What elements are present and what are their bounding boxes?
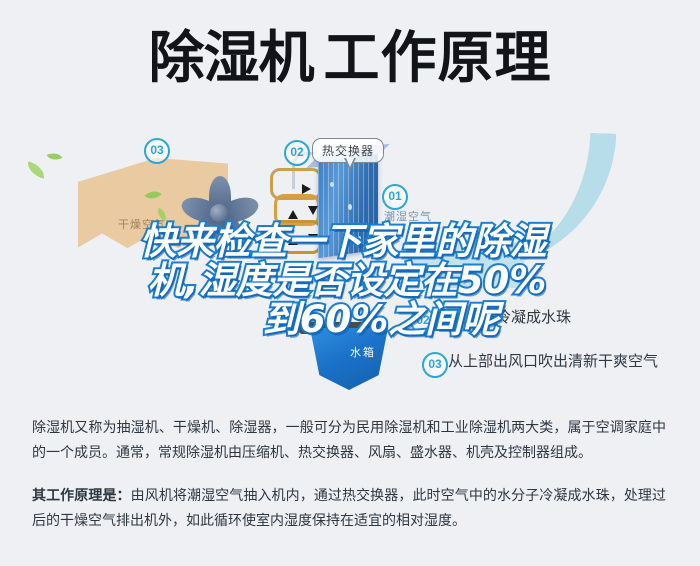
marker-01: 01 — [382, 184, 408, 210]
water-tank-icon — [310, 328, 388, 390]
page-root: 除湿机工作原理 干燥空气 — [0, 0, 700, 566]
page-title-part1: 除湿机 — [149, 24, 314, 94]
article-paragraph-2: 其工作原理是：由风机将潮湿空气抽入机内，通过热交换器，此时空气中的水分子冷凝成水… — [0, 484, 700, 534]
marker-02: 02 — [284, 140, 310, 166]
leaf-icon — [25, 161, 48, 179]
humid-air-arrow-tail-icon — [402, 242, 527, 288]
humid-air-label: 潮湿空气 — [384, 208, 432, 224]
water-tank-label: 水箱 — [350, 344, 376, 360]
article-paragraph-1: 除湿机又称为抽湿机、干燥机、除湿器，一般可分为民用除湿机和工业除湿机两大类，属于… — [0, 416, 700, 466]
callout-pointer-icon — [344, 158, 356, 170]
page-title-part2: 工作原理 — [324, 24, 552, 94]
water-droplet-icon — [358, 236, 361, 241]
flow-arrow-up-icon — [288, 210, 298, 219]
water-droplet-icon — [336, 224, 340, 229]
flow-arrow-up-icon — [288, 236, 298, 245]
caption-02-text: 过蒸发器冷凝成水珠 — [436, 306, 571, 327]
article-body: 除湿机又称为抽湿机、干燥机、除湿器，一般可分为民用除湿机和工业除湿机两大类，属于… — [0, 416, 700, 534]
water-droplet-icon — [348, 204, 352, 210]
flow-arrow-down-icon — [308, 234, 318, 243]
flow-arrow-down-icon — [308, 206, 318, 215]
article-paragraph-2-lead: 其工作原理是： — [32, 488, 131, 504]
dehumidifier-diagram: 干燥空气 — [0, 112, 700, 410]
caption-03-text: 从上部出风口吹出清新干爽空气 — [448, 350, 658, 371]
page-title: 除湿机工作原理 — [0, 24, 700, 94]
dry-air-label: 干燥空气 — [118, 216, 166, 232]
marker-03: 03 — [144, 138, 170, 164]
fan-icon — [176, 170, 262, 256]
fan-hub-icon — [210, 204, 228, 222]
leaf-icon — [47, 150, 63, 164]
flow-arrow-right-icon — [302, 184, 311, 194]
caption-marker-02: 02 — [410, 308, 436, 334]
water-droplet-icon — [330, 182, 334, 187]
caption-marker-03: 03 — [422, 352, 448, 378]
